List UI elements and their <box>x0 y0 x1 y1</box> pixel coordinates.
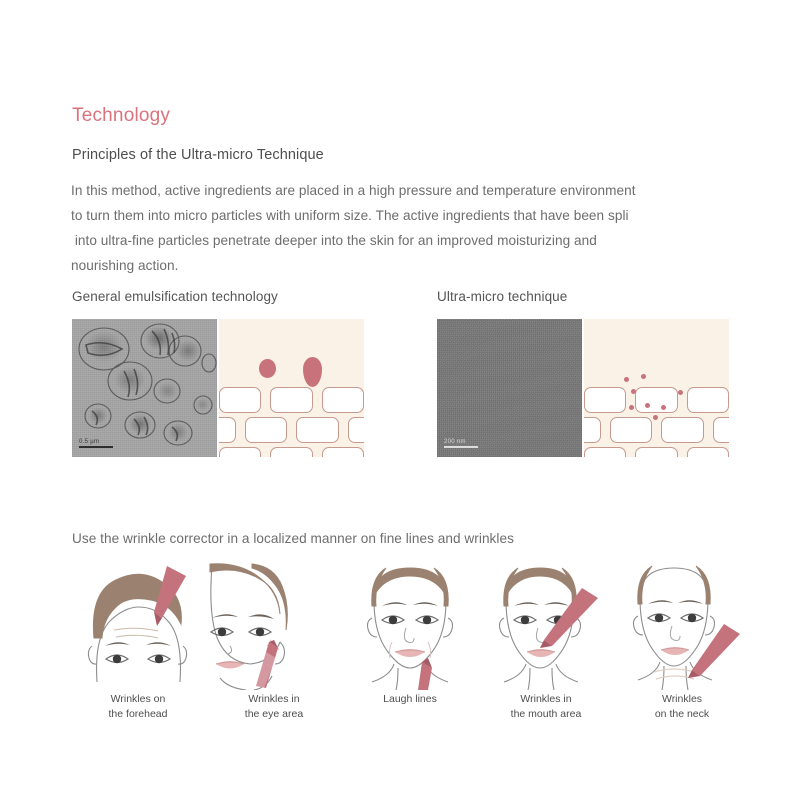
brick <box>584 387 626 413</box>
usage-instruction: Use the wrinkle corrector in a localized… <box>72 531 514 546</box>
scale-bar-left: 0.5 µm <box>79 439 113 448</box>
lips <box>395 649 425 657</box>
micro-particle <box>661 405 666 410</box>
technology-page: Technology Principles of the Ultra-micro… <box>0 0 800 800</box>
scale-bar-right: 200 nm <box>444 439 478 448</box>
diagram-skin-barrier-blocked <box>219 319 364 457</box>
body-paragraph: In this method, active ingredients are p… <box>71 178 761 278</box>
brick <box>348 417 365 443</box>
micrograph-general-emulsification: 0.5 µm <box>72 319 217 457</box>
caption-eye-area: Wrinkles in the eye area <box>206 692 342 722</box>
paragraph-line: In this method, active ingredients are p… <box>71 178 761 203</box>
tem-image-fine: 200 nm <box>437 319 582 457</box>
brick <box>296 417 339 443</box>
neck-wrinkle-lines <box>654 669 694 679</box>
applicator-stick <box>418 658 432 690</box>
applicator-stick <box>688 624 740 678</box>
eye-pupil <box>655 614 663 622</box>
lips <box>661 647 689 655</box>
caption-line: the mouth area <box>478 707 614 722</box>
paragraph-line: to turn them into micro particles with u… <box>71 203 761 228</box>
scale-bar-label: 0.5 µm <box>79 439 113 445</box>
paragraph-line: nourishing action. <box>71 253 761 278</box>
brick <box>687 447 729 457</box>
micrograph-ultra-micro: 200 nm <box>437 319 582 457</box>
caption-line: the eye area <box>206 707 342 722</box>
brick <box>245 417 288 443</box>
applicator-stick <box>256 640 278 688</box>
comparison-label-ultramicro: Ultra-micro technique <box>437 289 567 304</box>
brick <box>635 447 677 457</box>
micro-particle <box>645 403 650 408</box>
caption-line: Wrinkles in <box>478 692 614 707</box>
caption-line: Wrinkles <box>614 692 750 707</box>
brick <box>322 387 364 413</box>
caption-mouth-area: Wrinkles in the mouth area <box>478 692 614 722</box>
illustration-laugh-lines <box>342 560 478 690</box>
illustration-eye-area <box>206 560 342 690</box>
eye-pupil <box>423 616 431 624</box>
caption-line: on the neck <box>614 707 750 722</box>
eye-pupil <box>113 655 121 663</box>
micro-particle <box>653 415 658 420</box>
brick-row <box>584 387 729 413</box>
brick <box>661 417 704 443</box>
tem-grain-overlay <box>437 319 582 457</box>
micro-particle <box>678 390 683 395</box>
scale-bar-label: 200 nm <box>444 439 478 445</box>
tem-image-coarse: 0.5 µm <box>72 319 217 457</box>
brick <box>713 417 730 443</box>
brick <box>219 417 236 443</box>
illustration-forehead <box>70 560 206 690</box>
section-subtitle: Principles of the Ultra-micro Technique <box>72 147 324 163</box>
caption-line: Wrinkles in <box>206 692 342 707</box>
lips <box>527 649 555 657</box>
brick-row <box>219 417 364 443</box>
scale-bar-line <box>79 446 113 448</box>
illustration-neck <box>614 560 750 690</box>
micro-particle <box>624 377 629 382</box>
large-particle-teardrop <box>303 357 322 387</box>
paragraph-line: into ultra-fine particles penetrate deep… <box>71 228 761 253</box>
brick <box>219 447 261 457</box>
brick <box>219 387 261 413</box>
caption-line: the forehead <box>70 707 206 722</box>
brick <box>270 387 312 413</box>
caption-neck: Wrinkles on the neck <box>614 692 750 722</box>
brick-wall-penetrated <box>584 319 729 457</box>
page-title: Technology <box>72 105 170 127</box>
micro-particle <box>641 374 646 379</box>
micro-particle <box>631 389 636 394</box>
caption-laugh-lines: Laugh lines <box>342 692 478 707</box>
brick-row <box>584 417 729 443</box>
eye-pupil <box>256 628 264 636</box>
brick-row <box>584 447 729 457</box>
illustration-mouth-area <box>478 560 614 690</box>
eye-pupil <box>218 628 226 636</box>
diagram-skin-barrier-penetrated <box>584 319 729 457</box>
comparison-label-general: General emulsification technology <box>72 289 278 304</box>
brick <box>584 417 601 443</box>
brick <box>322 447 364 457</box>
brick-row <box>219 447 364 457</box>
brick-row <box>219 387 364 413</box>
scale-bar-line <box>444 446 478 448</box>
brick <box>610 417 653 443</box>
eye-pupil <box>389 616 397 624</box>
brick <box>270 447 312 457</box>
caption-line: Laugh lines <box>342 692 478 707</box>
caption-line: Wrinkles on <box>70 692 206 707</box>
large-particle <box>259 359 276 378</box>
micro-particle <box>629 405 634 410</box>
coarse-particle-outlines <box>72 319 217 457</box>
applicator-stick <box>540 588 598 648</box>
eye-pupil <box>688 614 696 622</box>
eye-pupil <box>155 655 163 663</box>
brick <box>687 387 729 413</box>
brick <box>635 387 677 413</box>
eye-pupil <box>521 616 529 624</box>
brick-wall-blocked <box>219 319 364 457</box>
caption-forehead: Wrinkles on the forehead <box>70 692 206 722</box>
brick <box>584 447 626 457</box>
